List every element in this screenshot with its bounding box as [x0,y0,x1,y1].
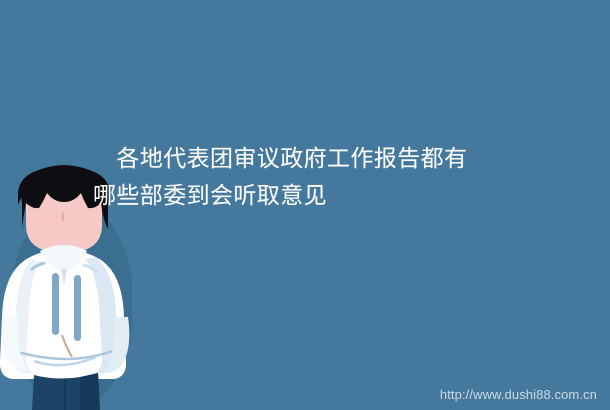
headline-text: 各地代表团审议政府工作报告都有 哪些部委到会听取意见 [93,140,563,214]
drawstring-right [74,275,81,341]
drawstring-left [52,273,59,335]
pants-shade [80,373,100,410]
article-thumbnail-image: 各地代表团审议政府工作报告都有 哪些部委到会听取意见 http://www.du… [0,0,610,410]
pants-center-seam [64,379,66,410]
watermark-url: http://www.dushi88.com.cn [440,387,597,402]
